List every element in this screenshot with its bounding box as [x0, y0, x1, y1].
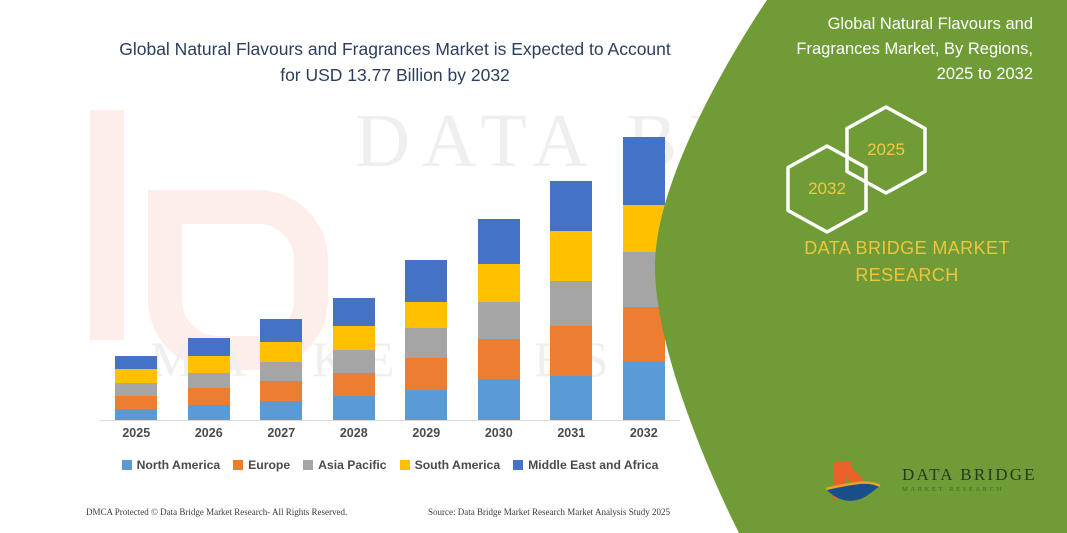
bar-segment[interactable] [260, 362, 302, 381]
legend-item[interactable]: South America [400, 458, 501, 472]
bar-segment[interactable] [260, 401, 302, 421]
x-axis-label-2030: 2030 [463, 426, 535, 440]
bar-segment[interactable] [478, 379, 520, 421]
logo-wordmark: DATA BRIDGE [902, 465, 1037, 485]
legend-swatch-icon [513, 460, 523, 470]
x-axis-label-2025: 2025 [100, 426, 172, 440]
stacked-bar-chart [100, 110, 680, 421]
bar-segment[interactable] [405, 302, 447, 328]
bar-segment[interactable] [115, 369, 157, 383]
bar-segment[interactable] [333, 298, 375, 326]
bar-2025[interactable] [115, 356, 157, 421]
page-title: Global Natural Flavours and Fragrances M… [110, 36, 680, 88]
bar-segment[interactable] [188, 373, 230, 388]
bar-segment[interactable] [115, 356, 157, 369]
bar-2027[interactable] [260, 319, 302, 421]
bar-segment[interactable] [188, 356, 230, 373]
logo-tagline: MARKET RESEARCH [902, 486, 1004, 493]
x-axis-label-2029: 2029 [390, 426, 462, 440]
bar-segment[interactable] [623, 137, 665, 205]
bar-2029[interactable] [405, 260, 447, 421]
footer: DMCA Protected © Data Bridge Market Rese… [0, 507, 700, 527]
legend-item[interactable]: Middle East and Africa [513, 458, 658, 472]
side-panel-title: Global Natural Flavours and Fragrances M… [763, 12, 1033, 87]
x-axis-label-2026: 2026 [173, 426, 245, 440]
bar-segment[interactable] [260, 381, 302, 401]
legend-item[interactable]: Europe [233, 458, 290, 472]
hexagon-label-2032: 2032 [808, 179, 846, 199]
bar-segment[interactable] [260, 319, 302, 342]
bar-2031[interactable] [550, 181, 592, 421]
bar-segment[interactable] [623, 362, 665, 421]
bar-segment[interactable] [333, 326, 375, 350]
legend-label: South America [415, 458, 501, 472]
bar-segment[interactable] [478, 339, 520, 379]
bar-segment[interactable] [115, 396, 157, 409]
bar-2030[interactable] [478, 219, 520, 421]
legend-label: Asia Pacific [318, 458, 386, 472]
hexagon-badge-2025: 2025 [839, 103, 933, 197]
bar-segment[interactable] [188, 388, 230, 405]
footer-source: Source: Data Bridge Market Research Mark… [428, 507, 670, 517]
bar-2026[interactable] [188, 338, 230, 421]
x-axis-label-2032: 2032 [608, 426, 680, 440]
bar-segment[interactable] [405, 260, 447, 302]
legend-swatch-icon [122, 460, 132, 470]
legend-label: North America [137, 458, 221, 472]
bar-segment[interactable] [478, 264, 520, 302]
bar-segment[interactable] [333, 350, 375, 373]
bar-segment[interactable] [405, 358, 447, 390]
x-axis-label-2031: 2031 [535, 426, 607, 440]
x-axis-labels: 20252026202720282029203020312032 [100, 426, 680, 448]
bar-segment[interactable] [333, 396, 375, 421]
bar-segment[interactable] [478, 219, 520, 264]
bar-segment[interactable] [550, 231, 592, 281]
bar-segment[interactable] [115, 383, 157, 396]
bar-segment[interactable] [550, 376, 592, 421]
bar-2028[interactable] [333, 298, 375, 421]
legend-swatch-icon [400, 460, 410, 470]
legend-swatch-icon [303, 460, 313, 470]
legend-swatch-icon [233, 460, 243, 470]
bar-segment[interactable] [188, 405, 230, 421]
bar-segment[interactable] [188, 338, 230, 356]
hexagon-label-2025: 2025 [867, 140, 905, 160]
bar-segment[interactable] [550, 326, 592, 376]
bar-segment[interactable] [478, 302, 520, 339]
data-bridge-mark-icon [822, 455, 894, 515]
footer-copyright: DMCA Protected © Data Bridge Market Rese… [86, 507, 347, 517]
bar-segment[interactable] [550, 281, 592, 326]
x-axis-label-2027: 2027 [245, 426, 317, 440]
legend-item[interactable]: Asia Pacific [303, 458, 386, 472]
bar-segment[interactable] [405, 390, 447, 421]
legend-label: Middle East and Africa [528, 458, 658, 472]
data-bridge-logo: DATA BRIDGE MARKET RESEARCH [822, 455, 1052, 517]
bar-segment[interactable] [333, 373, 375, 396]
chart-legend: North AmericaEuropeAsia PacificSouth Ame… [100, 455, 680, 475]
chart-panel: Global Natural Flavours and Fragrances M… [0, 0, 760, 533]
bar-segment[interactable] [623, 307, 665, 362]
legend-label: Europe [248, 458, 290, 472]
x-axis-label-2028: 2028 [318, 426, 390, 440]
legend-item[interactable]: North America [122, 458, 221, 472]
bar-segment[interactable] [260, 342, 302, 362]
x-axis-line [100, 420, 680, 421]
hexagon-badges: 2032 2025 [647, 100, 1067, 220]
bar-segment[interactable] [550, 181, 592, 231]
brand-name: DATA BRIDGE MARKET RESEARCH [757, 235, 1057, 289]
bar-segment[interactable] [405, 328, 447, 358]
